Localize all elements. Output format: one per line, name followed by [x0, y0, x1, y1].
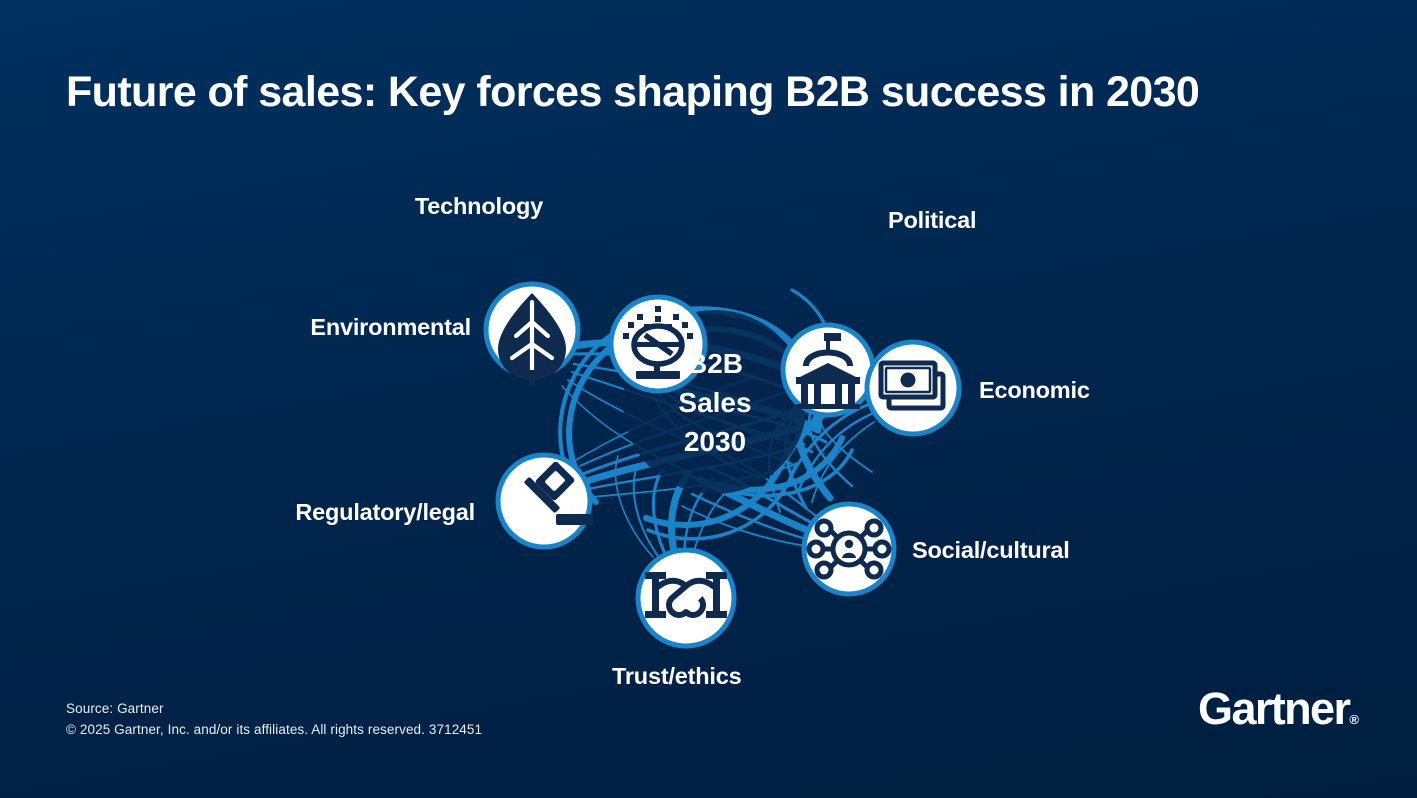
registered-trademark-icon: ®	[1349, 712, 1359, 727]
node-label-environmental: Environmental	[310, 314, 471, 341]
node-label-social-cultural: Social/cultural	[912, 537, 1070, 564]
gartner-logo-text: Gartner	[1198, 683, 1349, 734]
node-label-trust-ethics: Trust/ethics	[612, 663, 742, 690]
node-social-cultural[interactable]	[804, 504, 894, 594]
page-title: Future of sales: Key forces shaping B2B …	[66, 68, 1199, 117]
node-label-political: Political	[888, 207, 976, 234]
slide-canvas: Future of sales: Key forces shaping B2B …	[0, 0, 1417, 798]
hub-line-2: Sales	[678, 387, 751, 418]
hub-line-3: 2030	[684, 426, 746, 457]
footer-copyright: © 2025 Gartner, Inc. and/or its affiliat…	[66, 720, 482, 741]
node-political[interactable]	[783, 325, 873, 415]
hub-line-1: B2B	[687, 348, 743, 379]
gartner-logo: Gartner®	[1198, 686, 1359, 731]
node-environmental[interactable]	[486, 284, 578, 386]
node-label-technology: Technology	[415, 193, 543, 220]
node-trust-ethics[interactable]	[638, 550, 734, 646]
footer: Source: Gartner © 2025 Gartner, Inc. and…	[66, 699, 482, 741]
node-label-regulatory-legal: Regulatory/legal	[295, 499, 475, 526]
node-label-economic: Economic	[979, 377, 1090, 404]
footer-source: Source: Gartner	[66, 699, 482, 720]
diagram-svg: B2B Sales 2030	[0, 130, 1417, 710]
forces-diagram: B2B Sales 2030 Technology Political Envi…	[0, 130, 1417, 710]
node-regulatory-legal[interactable]	[498, 455, 594, 547]
node-economic[interactable]	[867, 342, 959, 434]
hub-center-label: B2B Sales 2030	[678, 348, 751, 457]
